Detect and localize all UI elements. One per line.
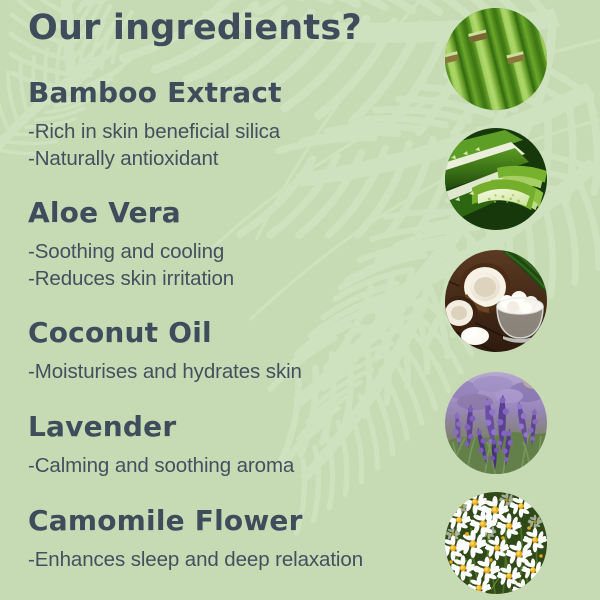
benefit-item: -Moisturises and hydrates skin [28,358,302,385]
ingredient-name-lavender: Lavender [28,410,294,444]
ingredients-poster: Our ingredients? Bamboo Extract -Rich in… [0,0,600,600]
ingredient-section-bamboo: Bamboo Extract -Rich in skin beneficial … [28,76,282,172]
coconut-photo [445,250,547,352]
spacer [28,350,302,358]
benefit-list-lavender: -Calming and soothing aroma [28,452,294,479]
spacer [28,230,234,238]
benefit-item: -Reduces skin irritation [28,265,234,292]
benefit-list-camomile: -Enhances sleep and deep relaxation [28,546,363,573]
benefit-item: -Calming and soothing aroma [28,452,294,479]
ingredients-text-column: Our ingredients? Bamboo Extract -Rich in… [0,0,445,600]
spacer [28,110,282,118]
ingredient-section-lavender: Lavender -Calming and soothing aroma [28,410,294,479]
ingredient-name-camomile: Camomile Flower [28,504,363,538]
ingredient-name-bamboo: Bamboo Extract [28,76,282,110]
ingredient-section-coconut-oil: Coconut Oil -Moisturises and hydrates sk… [28,316,302,385]
spacer [28,538,363,546]
lavender-photo [445,372,547,474]
spacer [28,444,294,452]
benefit-item: -Naturally antioxidant [28,145,282,172]
aloe-vera-photo [445,128,547,230]
camomile-photo [445,492,547,594]
benefit-list-aloe-vera: -Soothing and cooling -Reduces skin irri… [28,238,234,292]
ingredient-name-aloe-vera: Aloe Vera [28,196,234,230]
benefit-list-bamboo: -Rich in skin beneficial silica -Natural… [28,118,282,172]
benefit-item: -Rich in skin beneficial silica [28,118,282,145]
benefit-list-coconut-oil: -Moisturises and hydrates skin [28,358,302,385]
benefit-item: -Enhances sleep and deep relaxation [28,546,363,573]
ingredient-name-coconut-oil: Coconut Oil [28,316,302,350]
page-title: Our ingredients? [28,8,362,48]
benefit-item: -Soothing and cooling [28,238,234,265]
ingredient-section-camomile: Camomile Flower -Enhances sleep and deep… [28,504,363,573]
ingredient-section-aloe-vera: Aloe Vera -Soothing and cooling -Reduces… [28,196,234,292]
bamboo-photo [445,8,547,110]
